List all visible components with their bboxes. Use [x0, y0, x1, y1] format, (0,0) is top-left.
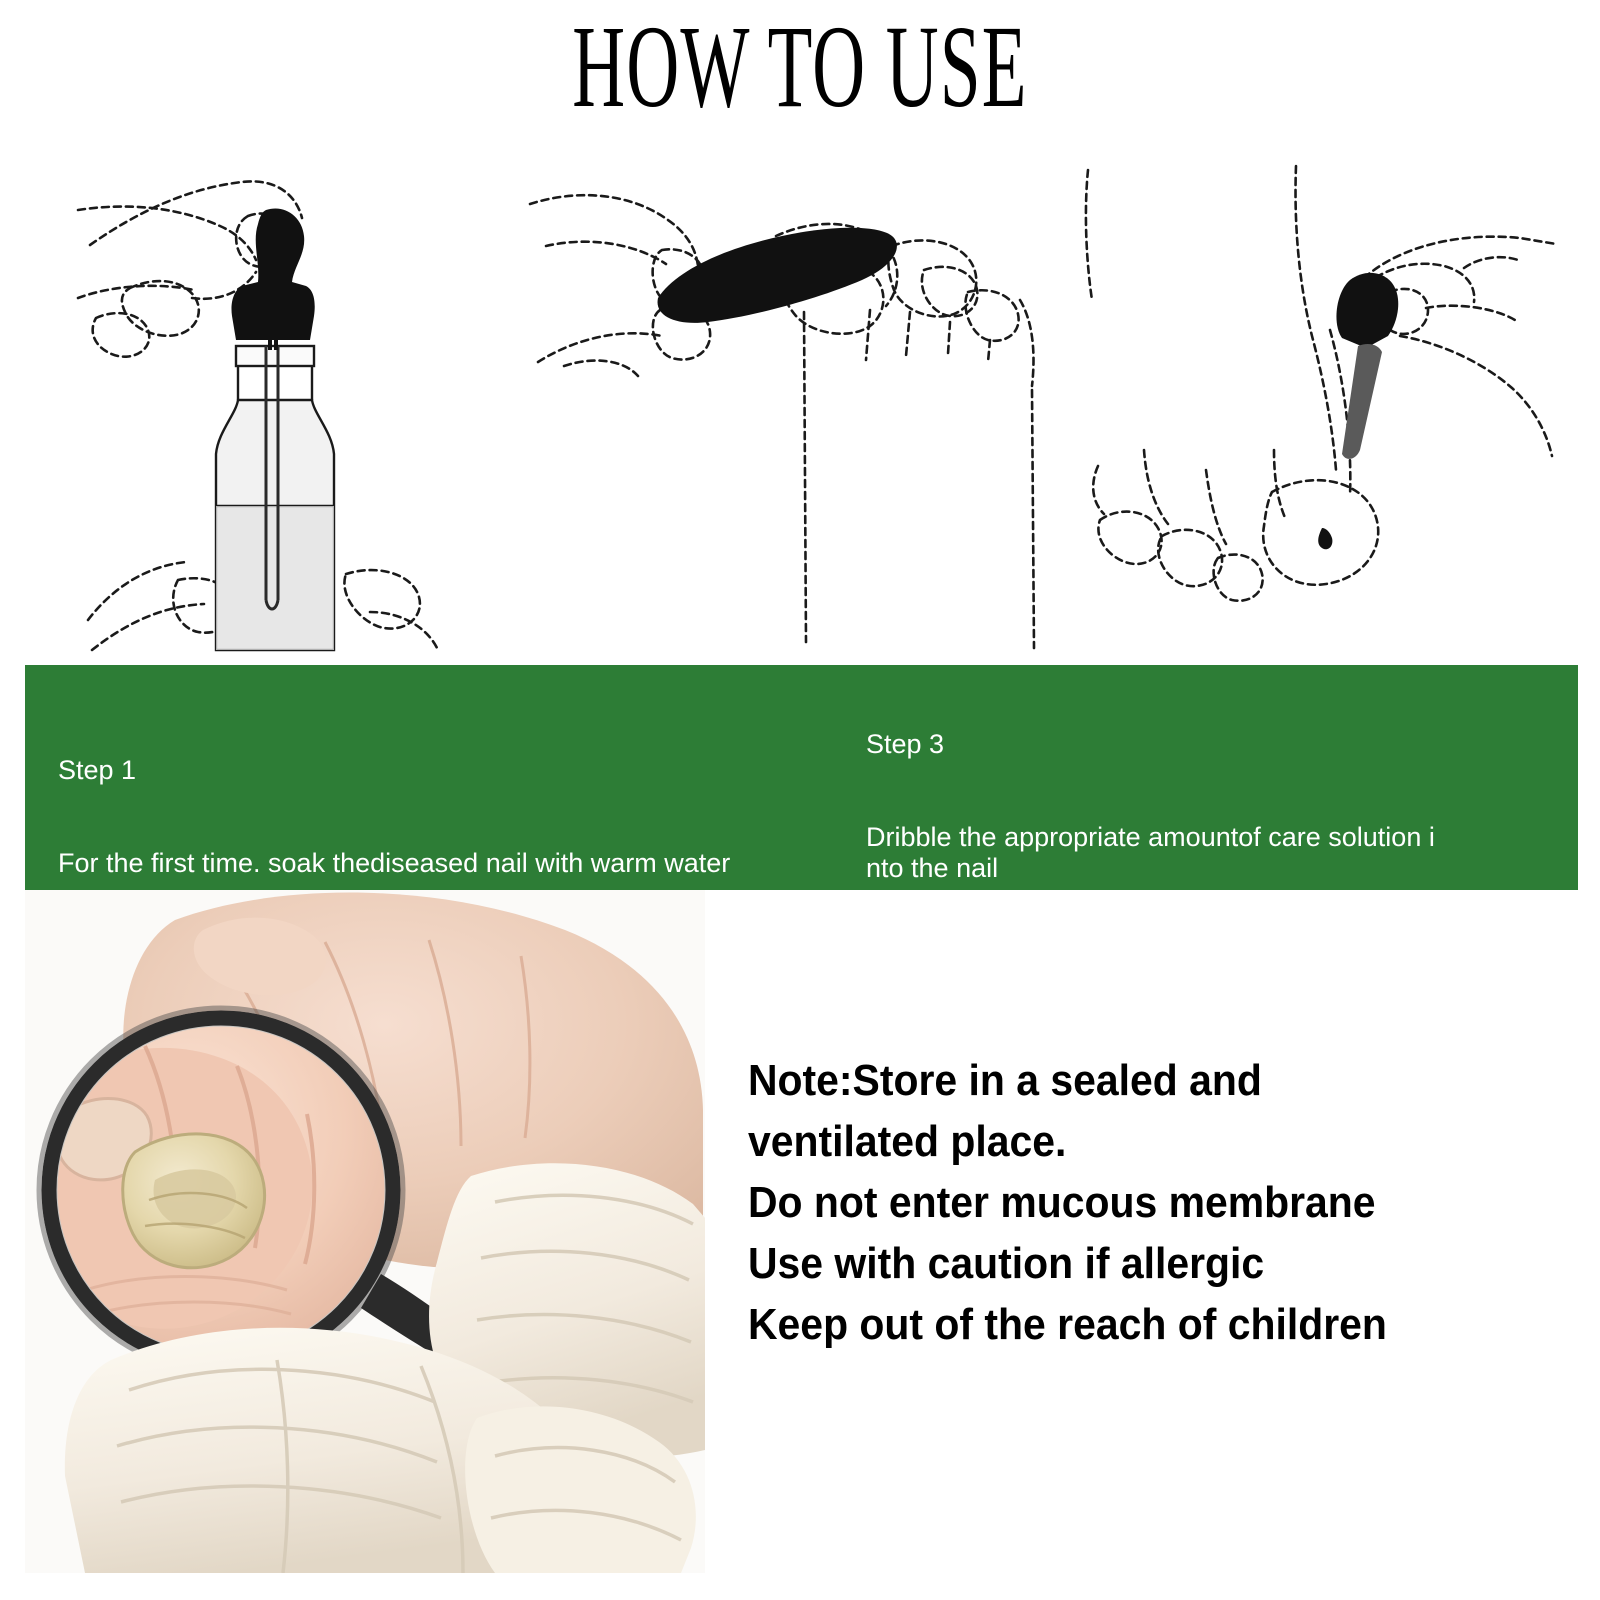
step-1-body: For the first time. soak thediseased nai… — [58, 848, 848, 879]
note-line-3: Do not enter mucous membrane — [748, 1172, 1539, 1233]
note-line-5: Keep out of the reach of children — [748, 1294, 1539, 1355]
note-line-1: Note:Store in a sealed and — [748, 1050, 1539, 1111]
step-3-label: Step 3 — [866, 729, 1566, 760]
hand-filing-toenail-illustration — [520, 150, 1040, 660]
note-block: Note:Store in a sealed and ventilated pl… — [748, 1050, 1539, 1355]
step-4-label: Step 4 — [866, 946, 1566, 977]
step-1-label: Step 1 — [58, 755, 848, 786]
how-to-use-infographic: HOW TO USE — [0, 0, 1600, 1600]
hand-dripping-solution-illustration — [1060, 150, 1560, 660]
magnifying-glass-toenail-photo — [25, 890, 705, 1573]
illustration-row — [0, 150, 1600, 660]
steps-panel: Step 1 For the first time. soak thedisea… — [25, 665, 1578, 890]
page-title: HOW TO USE — [304, 8, 1296, 126]
note-line-4: Use with caution if allergic — [748, 1233, 1539, 1294]
hand-holding-dropper-bottle-illustration — [70, 150, 460, 660]
step-3-body: Dribble the appropriate amountof care so… — [866, 822, 1566, 884]
note-line-2: ventilated place. — [748, 1111, 1539, 1172]
